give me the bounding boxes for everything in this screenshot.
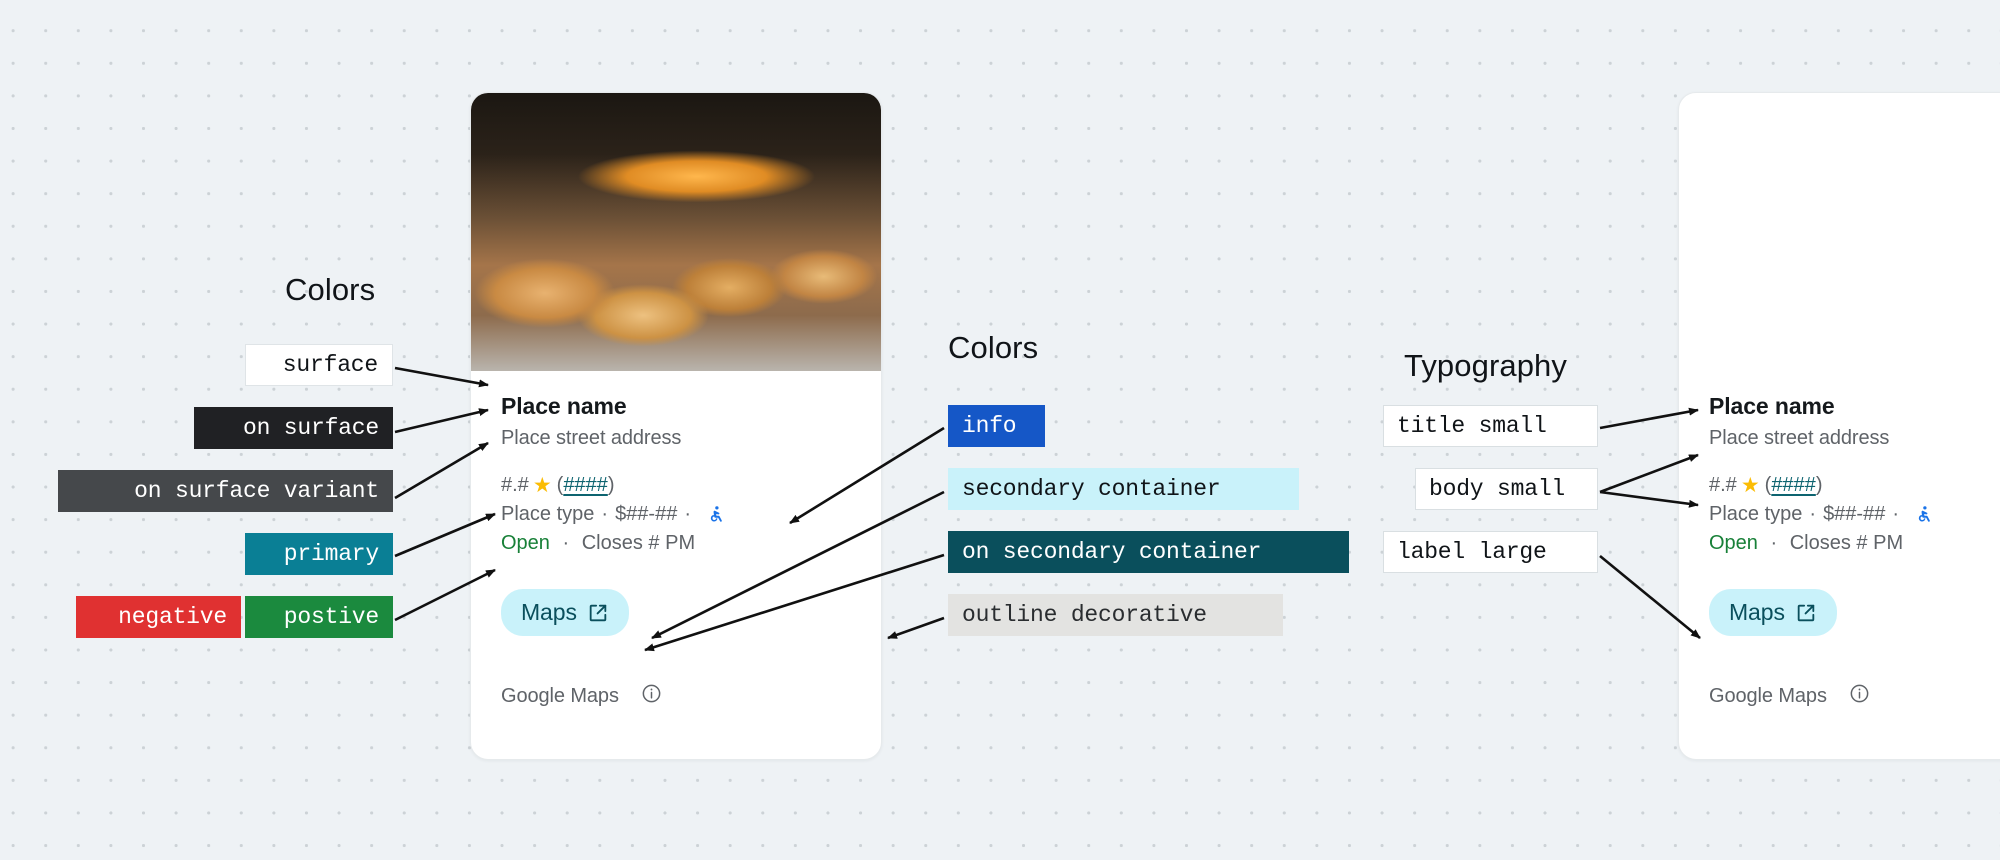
- maps-button-label: Maps: [1729, 599, 1785, 626]
- card-photo-bakery: [471, 93, 881, 371]
- open-status: Open: [1709, 532, 1758, 554]
- place-type-row: Place type · $##-## ·: [501, 503, 851, 526]
- swatch-label: on surface: [243, 415, 379, 441]
- swatch-on-surface[interactable]: on surface: [194, 407, 393, 449]
- separator-dot: ·: [563, 532, 570, 554]
- card-body: Place name Place street address #.# ★ ( …: [471, 371, 881, 709]
- paren-close: ): [1816, 474, 1823, 497]
- separator-dot: ·: [684, 503, 691, 526]
- swatch-postive[interactable]: postive: [245, 596, 393, 638]
- swatch-on-surface-variant[interactable]: on surface variant: [58, 470, 393, 512]
- separator-dot: ·: [1892, 503, 1899, 526]
- card-footer: Google Maps: [1709, 683, 2000, 709]
- hours-row: Open · Closes # PM: [501, 532, 851, 555]
- review-count-link[interactable]: ####: [563, 474, 608, 497]
- closing-time: Closes # PM: [1790, 532, 1903, 554]
- place-address: Place street address: [501, 427, 851, 450]
- swatch-label: postive: [284, 604, 379, 630]
- paren-open: (: [1765, 474, 1772, 497]
- swatch-info[interactable]: info: [948, 405, 1045, 447]
- swatch-surface[interactable]: surface: [245, 344, 393, 386]
- place-name: Place name: [501, 393, 851, 420]
- swatch-negative[interactable]: negative: [76, 596, 241, 638]
- separator-dot: ·: [601, 503, 608, 526]
- review-count-link[interactable]: ####: [1771, 474, 1816, 497]
- open-status: Open: [501, 532, 550, 554]
- rating-value: #.#: [501, 474, 529, 497]
- paren-close: ): [608, 474, 615, 497]
- maps-button-label: Maps: [521, 599, 577, 626]
- paren-open: (: [557, 474, 564, 497]
- typo-token-label-large[interactable]: label large: [1383, 531, 1598, 573]
- maps-button[interactable]: Maps: [501, 589, 629, 636]
- connector-outline-decorative: [888, 618, 944, 638]
- wheelchair-accessible-icon: [707, 505, 726, 524]
- place-type: Place type: [501, 503, 594, 526]
- star-icon: ★: [1741, 475, 1760, 496]
- swatch-outline-decorative[interactable]: outline decorative: [948, 594, 1283, 636]
- star-icon: ★: [533, 475, 552, 496]
- card-footer: Google Maps: [501, 683, 851, 709]
- swatch-label: secondary container: [962, 476, 1220, 502]
- rating-value: #.#: [1709, 474, 1737, 497]
- rating-row: #.# ★ ( #### ): [1709, 474, 2000, 497]
- price-range: $##-##: [1823, 503, 1885, 526]
- swatch-primary[interactable]: primary: [245, 533, 393, 575]
- card-body: Place name Place street address #.# ★ ( …: [1679, 371, 2000, 709]
- place-address: Place street address: [1709, 427, 2000, 450]
- swatch-label: negative: [118, 604, 227, 630]
- hours-row: Open · Closes # PM: [1709, 532, 2000, 555]
- swatch-label: surface: [283, 352, 378, 378]
- typo-token-title-small[interactable]: title small: [1383, 405, 1598, 447]
- rating-row: #.# ★ ( #### ): [501, 474, 851, 497]
- place-type-row: Place type · $##-## ·: [1709, 503, 2000, 526]
- attribution-label: Google Maps: [1709, 685, 1827, 708]
- swatch-label: outline decorative: [962, 602, 1207, 628]
- colors-left-heading: Colors: [285, 272, 375, 308]
- wheelchair-accessible-icon: [1915, 505, 1934, 524]
- typo-token-body-small[interactable]: body small: [1415, 468, 1598, 510]
- colors-middle-heading: Colors: [948, 330, 1038, 366]
- card-photo-cafe: [1679, 93, 2000, 371]
- place-name: Place name: [1709, 393, 2000, 420]
- separator-dot: ·: [1809, 503, 1816, 526]
- design-spec-canvas: Colors surface on surface on surface var…: [0, 0, 2000, 860]
- place-type: Place type: [1709, 503, 1802, 526]
- swatch-label: on surface variant: [134, 478, 379, 504]
- separator-dot: ·: [1771, 532, 1778, 554]
- swatch-on-secondary-container[interactable]: on secondary container: [948, 531, 1349, 573]
- swatch-label: on secondary container: [962, 539, 1261, 565]
- typo-token-label: label large: [1397, 539, 1547, 565]
- closing-time: Closes # PM: [582, 532, 695, 554]
- swatch-label: primary: [284, 541, 379, 567]
- attribution-label: Google Maps: [501, 685, 619, 708]
- open-in-new-icon: [1795, 602, 1817, 624]
- maps-button[interactable]: Maps: [1709, 589, 1837, 636]
- typo-token-label: body small: [1429, 476, 1565, 502]
- swatch-label: info: [962, 413, 1016, 439]
- swatch-secondary-container[interactable]: secondary container: [948, 468, 1299, 510]
- open-in-new-icon: [587, 602, 609, 624]
- place-card-center[interactable]: Place name Place street address #.# ★ ( …: [470, 92, 882, 760]
- info-circle-icon[interactable]: [641, 683, 662, 709]
- typo-token-label: title small: [1397, 413, 1547, 439]
- place-card-right[interactable]: Place name Place street address #.# ★ ( …: [1678, 92, 2000, 760]
- price-range: $##-##: [615, 503, 677, 526]
- typography-heading: Typography: [1404, 348, 1567, 384]
- info-circle-icon[interactable]: [1849, 683, 1870, 709]
